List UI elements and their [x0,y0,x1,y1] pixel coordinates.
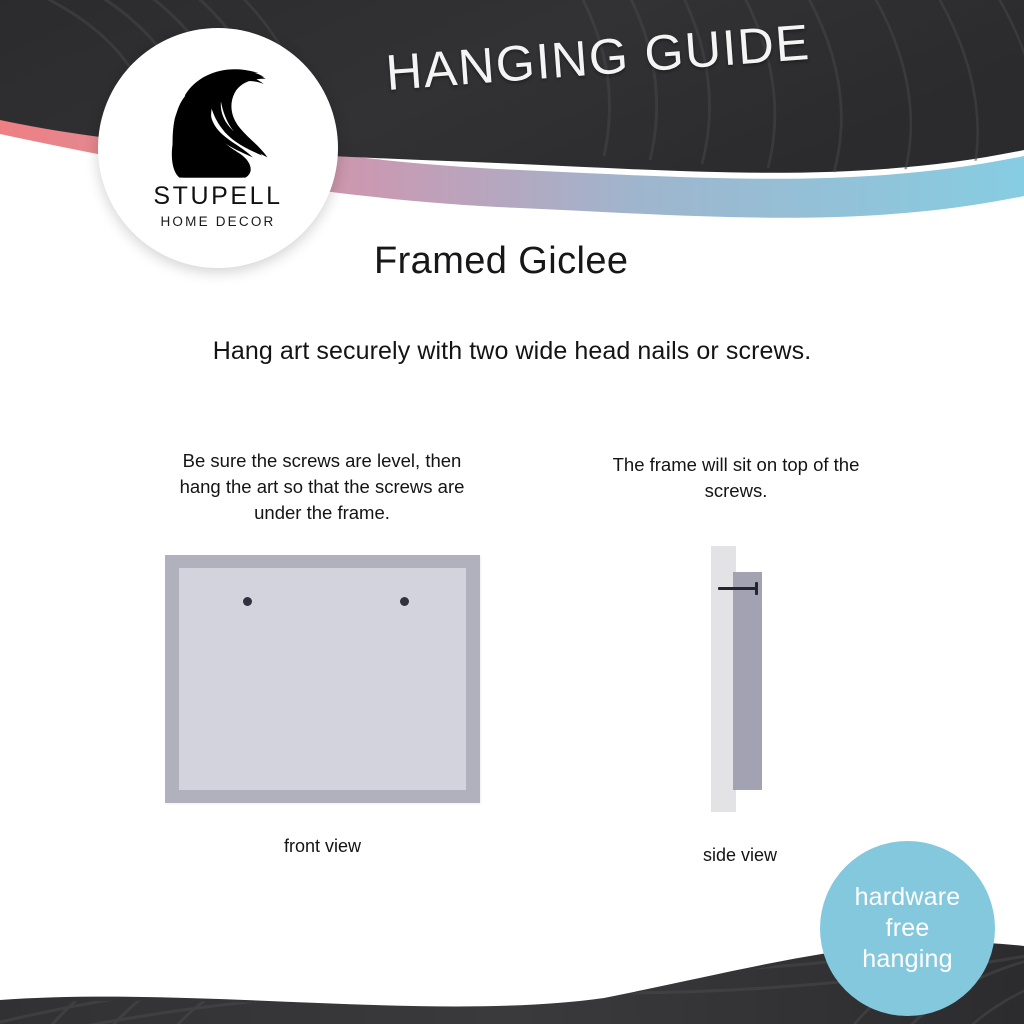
side-view-caption: The frame will sit on top of the screws. [596,452,876,504]
badge-line-1: hardware [855,882,961,913]
side-view-diagram [700,540,790,820]
hardware-free-hanging-badge: hardware free hanging [820,841,995,1016]
side-view-frame [733,572,762,790]
lead-instruction: Hang art securely with two wide head nai… [0,337,1024,366]
nail-shaft-icon [718,587,758,590]
front-view-mat [179,568,466,790]
side-view-label: side view [660,845,820,866]
product-type-title: Framed Giclee [374,240,628,283]
badge-line-3: hanging [862,944,952,975]
brand-name: STUPELL [153,182,282,211]
brand-logo-badge: STUPELL HOME DECOR [98,28,338,268]
brand-tagline: HOME DECOR [160,214,275,229]
stupell-swoosh-icon [163,58,273,178]
screw-dot-right [400,597,409,606]
badge-line-2: free [886,913,930,944]
hanging-guide-page: STUPELL HOME DECOR HANGING GUIDE Framed … [0,0,1024,1024]
front-view-diagram [165,555,480,803]
nail-head-icon [755,582,758,595]
front-view-label: front view [165,836,480,857]
screw-dot-left [243,597,252,606]
front-view-caption: Be sure the screws are level, then hang … [164,448,480,526]
page-title: HANGING GUIDE [384,13,812,102]
